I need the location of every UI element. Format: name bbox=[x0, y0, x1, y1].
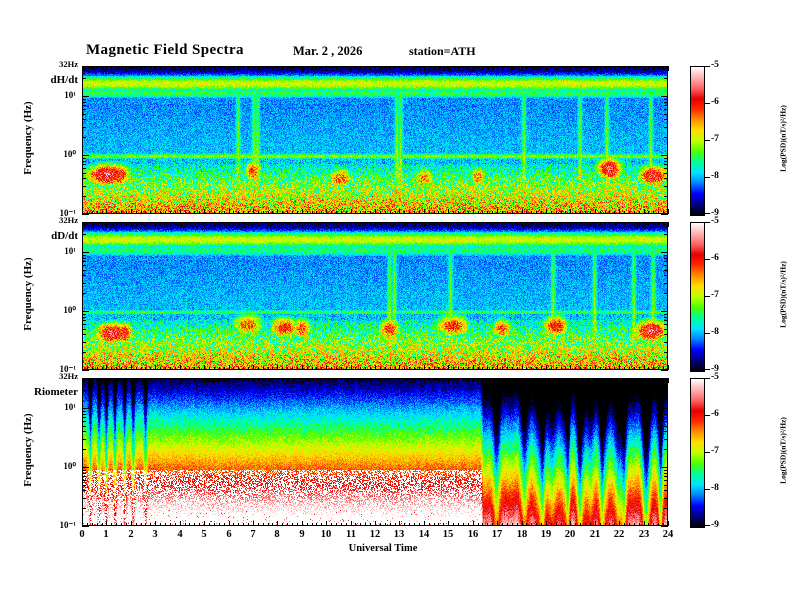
x-tick bbox=[136, 211, 137, 214]
x-tick bbox=[268, 378, 269, 381]
x-tick bbox=[517, 378, 518, 381]
x-tick bbox=[272, 66, 273, 69]
x-tick bbox=[497, 521, 498, 526]
x-tick bbox=[155, 521, 156, 526]
y-minor-tick bbox=[82, 449, 86, 450]
x-tick bbox=[644, 66, 645, 71]
y-minor-tick bbox=[82, 173, 86, 174]
x-tick bbox=[302, 378, 303, 383]
x-tick bbox=[585, 523, 586, 526]
y-minor-tick bbox=[664, 173, 668, 174]
x-tick bbox=[487, 367, 488, 370]
x-tick bbox=[463, 222, 464, 225]
y-minor-tick bbox=[82, 414, 86, 415]
x-tick bbox=[648, 222, 649, 225]
x-tick bbox=[419, 523, 420, 526]
x-tick bbox=[346, 378, 347, 381]
y-minor-tick bbox=[664, 473, 668, 474]
y-major-tick-right-riometer-0 bbox=[661, 408, 668, 409]
y-minor-tick bbox=[82, 390, 86, 391]
y-minor-tick bbox=[82, 137, 86, 138]
x-tick bbox=[458, 222, 459, 225]
x-tick bbox=[473, 209, 474, 214]
x-tick bbox=[375, 222, 376, 227]
x-tick bbox=[199, 378, 200, 381]
x-tick bbox=[170, 66, 171, 69]
x-tick bbox=[517, 222, 518, 225]
x-tick bbox=[565, 66, 566, 69]
x-tick bbox=[404, 523, 405, 526]
x-tick bbox=[375, 521, 376, 526]
y-minor-tick bbox=[664, 109, 668, 110]
x-tick bbox=[189, 378, 190, 381]
x-tick bbox=[438, 367, 439, 370]
y-minor-tick bbox=[664, 334, 668, 335]
x-tick bbox=[614, 378, 615, 381]
x-tick bbox=[145, 211, 146, 214]
x-tick bbox=[199, 523, 200, 526]
x-tick bbox=[487, 222, 488, 225]
x-tick bbox=[565, 222, 566, 225]
x-tick bbox=[570, 365, 571, 370]
colorbar-tick-label-dhdt-2: -7 bbox=[711, 134, 719, 144]
x-tick bbox=[106, 66, 107, 71]
x-tick bbox=[619, 209, 620, 214]
x-tick bbox=[302, 209, 303, 214]
x-tick bbox=[595, 521, 596, 526]
x-tick bbox=[512, 222, 513, 225]
x-tick bbox=[658, 378, 659, 381]
x-axis-tick-label-14: 14 bbox=[414, 529, 434, 540]
y-minor-tick bbox=[664, 490, 668, 491]
x-tick bbox=[605, 222, 606, 225]
x-tick bbox=[194, 222, 195, 225]
x-tick bbox=[453, 378, 454, 381]
x-tick bbox=[360, 222, 361, 225]
x-tick bbox=[253, 66, 254, 71]
x-tick bbox=[390, 66, 391, 69]
x-tick bbox=[463, 66, 464, 69]
x-tick bbox=[307, 367, 308, 370]
x-tick bbox=[605, 523, 606, 526]
x-tick bbox=[478, 378, 479, 381]
x-tick bbox=[331, 523, 332, 526]
y-minor-tick bbox=[664, 449, 668, 450]
x-tick bbox=[600, 66, 601, 69]
x-tick bbox=[321, 66, 322, 69]
y-minor-tick bbox=[664, 320, 668, 321]
colorbar-tick-label-dddt-2: -7 bbox=[711, 290, 719, 300]
x-axis-tick-label-8: 8 bbox=[267, 529, 287, 540]
x-tick bbox=[663, 66, 664, 69]
x-tick bbox=[170, 222, 171, 225]
x-tick bbox=[297, 66, 298, 69]
y-minor-tick bbox=[82, 485, 86, 486]
y-major-tick-dhdt-2 bbox=[82, 214, 89, 215]
x-tick bbox=[243, 222, 244, 225]
x-tick bbox=[448, 365, 449, 370]
x-tick bbox=[336, 378, 337, 381]
x-axis-tick-label-22: 22 bbox=[609, 529, 629, 540]
x-tick bbox=[624, 378, 625, 381]
x-tick bbox=[453, 222, 454, 225]
x-tick bbox=[360, 523, 361, 526]
x-tick bbox=[341, 367, 342, 370]
x-axis-tick-label-10: 10 bbox=[316, 529, 336, 540]
x-tick bbox=[141, 211, 142, 214]
x-tick bbox=[556, 378, 557, 381]
y-minor-tick bbox=[664, 255, 668, 256]
y-minor-tick bbox=[82, 265, 86, 266]
colorbar-tick-label-dddt-3: -8 bbox=[711, 327, 719, 337]
y-minor-tick bbox=[664, 102, 668, 103]
x-tick bbox=[248, 66, 249, 69]
x-tick bbox=[312, 222, 313, 225]
x-tick bbox=[609, 66, 610, 69]
x-tick bbox=[263, 367, 264, 370]
x-tick bbox=[541, 211, 542, 214]
x-tick bbox=[87, 378, 88, 381]
y-minor-tick bbox=[82, 102, 86, 103]
x-tick bbox=[243, 378, 244, 381]
x-tick bbox=[458, 367, 459, 370]
x-tick bbox=[634, 211, 635, 214]
x-tick bbox=[106, 222, 107, 227]
x-tick bbox=[233, 211, 234, 214]
x-tick bbox=[214, 66, 215, 69]
x-tick bbox=[614, 222, 615, 225]
x-tick bbox=[287, 367, 288, 370]
x-tick bbox=[561, 523, 562, 526]
x-tick bbox=[175, 367, 176, 370]
x-tick bbox=[634, 367, 635, 370]
x-tick bbox=[224, 378, 225, 381]
x-tick bbox=[302, 222, 303, 227]
x-tick bbox=[282, 367, 283, 370]
x-tick bbox=[614, 211, 615, 214]
x-tick bbox=[111, 66, 112, 69]
colorbar-tick bbox=[705, 140, 710, 141]
x-tick bbox=[590, 523, 591, 526]
x-tick bbox=[497, 209, 498, 214]
y-minor-tick bbox=[664, 105, 668, 106]
x-tick bbox=[639, 211, 640, 214]
x-tick bbox=[233, 378, 234, 381]
x-tick bbox=[229, 222, 230, 227]
y-minor-tick bbox=[82, 334, 86, 335]
x-tick bbox=[487, 523, 488, 526]
x-tick bbox=[429, 367, 430, 370]
x-tick bbox=[624, 367, 625, 370]
x-tick bbox=[180, 66, 181, 71]
x-tick bbox=[316, 523, 317, 526]
x-tick bbox=[575, 523, 576, 526]
y-minor-tick bbox=[664, 439, 668, 440]
x-tick bbox=[194, 367, 195, 370]
x-tick bbox=[346, 211, 347, 214]
x-tick bbox=[136, 367, 137, 370]
x-tick bbox=[609, 367, 610, 370]
x-axis-tick-label-19: 19 bbox=[536, 529, 556, 540]
x-tick bbox=[351, 222, 352, 227]
x-tick bbox=[297, 367, 298, 370]
x-tick bbox=[131, 365, 132, 370]
x-tick bbox=[312, 211, 313, 214]
x-tick bbox=[399, 521, 400, 526]
x-tick bbox=[409, 378, 410, 381]
colorbar-tick bbox=[705, 489, 710, 490]
x-tick bbox=[321, 211, 322, 214]
x-tick bbox=[473, 521, 474, 526]
x-tick bbox=[522, 521, 523, 526]
x-tick bbox=[229, 365, 230, 370]
x-tick bbox=[526, 211, 527, 214]
y-axis-title-dhdt: Frequency (Hz) bbox=[22, 88, 34, 188]
x-tick bbox=[204, 378, 205, 383]
panel-tag-dddt: dD/dt bbox=[4, 230, 78, 242]
x-tick bbox=[263, 222, 264, 225]
x-tick bbox=[312, 66, 313, 69]
x-tick bbox=[526, 378, 527, 381]
panel-top-freq-label-dddt: 32Hz bbox=[38, 215, 78, 225]
x-axis-tick-label-13: 13 bbox=[389, 529, 409, 540]
x-tick bbox=[453, 211, 454, 214]
x-axis-tick-label-6: 6 bbox=[219, 529, 239, 540]
x-tick bbox=[82, 521, 83, 526]
x-tick bbox=[399, 378, 400, 383]
y-major-tick-dddt-2 bbox=[82, 370, 89, 371]
x-tick bbox=[492, 523, 493, 526]
x-tick bbox=[375, 66, 376, 71]
x-tick bbox=[526, 66, 527, 69]
x-tick bbox=[248, 523, 249, 526]
x-tick bbox=[434, 222, 435, 225]
x-tick bbox=[390, 523, 391, 526]
y-minor-tick bbox=[664, 431, 668, 432]
x-tick bbox=[639, 378, 640, 381]
x-tick bbox=[512, 378, 513, 381]
x-tick bbox=[277, 378, 278, 383]
x-tick bbox=[341, 222, 342, 225]
y-minor-tick bbox=[82, 78, 86, 79]
x-tick bbox=[126, 523, 127, 526]
y-minor-tick bbox=[664, 258, 668, 259]
x-tick bbox=[97, 222, 98, 225]
x-tick bbox=[634, 378, 635, 381]
x-tick bbox=[565, 367, 566, 370]
x-tick bbox=[482, 66, 483, 69]
x-axis-tick-label-0: 0 bbox=[72, 529, 92, 540]
x-tick bbox=[424, 66, 425, 71]
x-tick bbox=[419, 222, 420, 225]
x-tick bbox=[355, 378, 356, 381]
x-tick bbox=[175, 222, 176, 225]
x-tick bbox=[434, 211, 435, 214]
y-minor-tick bbox=[664, 161, 668, 162]
y-minor-tick bbox=[664, 342, 668, 343]
x-tick bbox=[160, 523, 161, 526]
x-tick bbox=[668, 222, 669, 227]
x-tick bbox=[277, 66, 278, 71]
x-tick bbox=[131, 521, 132, 526]
y-minor-tick bbox=[664, 329, 668, 330]
x-tick bbox=[492, 378, 493, 381]
x-tick bbox=[121, 66, 122, 69]
x-tick bbox=[150, 211, 151, 214]
x-tick bbox=[385, 523, 386, 526]
x-tick bbox=[565, 211, 566, 214]
colorbar-tick bbox=[705, 333, 710, 334]
y-minor-tick bbox=[664, 234, 668, 235]
x-tick bbox=[155, 222, 156, 227]
x-tick bbox=[570, 378, 571, 383]
x-tick bbox=[507, 66, 508, 69]
x-tick bbox=[438, 523, 439, 526]
y-minor-tick bbox=[82, 342, 86, 343]
x-tick bbox=[551, 211, 552, 214]
x-axis-tick-label-4: 4 bbox=[170, 529, 190, 540]
x-tick bbox=[448, 378, 449, 383]
x-tick bbox=[106, 365, 107, 370]
y-minor-tick bbox=[82, 258, 86, 259]
x-tick bbox=[341, 66, 342, 69]
x-tick bbox=[150, 378, 151, 381]
x-tick bbox=[653, 367, 654, 370]
y-minor-tick bbox=[82, 426, 86, 427]
x-tick bbox=[590, 222, 591, 225]
x-tick bbox=[629, 523, 630, 526]
x-tick bbox=[473, 378, 474, 383]
x-tick bbox=[351, 365, 352, 370]
x-tick bbox=[565, 378, 566, 381]
x-tick bbox=[463, 211, 464, 214]
x-tick bbox=[404, 367, 405, 370]
x-tick bbox=[541, 523, 542, 526]
x-tick bbox=[365, 378, 366, 381]
x-tick bbox=[404, 211, 405, 214]
x-tick bbox=[458, 66, 459, 69]
x-axis-tick-label-7: 7 bbox=[243, 529, 263, 540]
x-axis-tick-label-15: 15 bbox=[438, 529, 458, 540]
x-tick bbox=[282, 378, 283, 381]
x-tick bbox=[522, 66, 523, 71]
y-minor-tick bbox=[82, 473, 86, 474]
spectrogram-canvas-riometer bbox=[82, 378, 668, 526]
x-tick bbox=[414, 523, 415, 526]
y-minor-tick bbox=[82, 196, 86, 197]
x-tick bbox=[238, 211, 239, 214]
x-tick bbox=[160, 367, 161, 370]
x-tick bbox=[165, 211, 166, 214]
x-tick bbox=[282, 66, 283, 69]
y-minor-tick bbox=[82, 261, 86, 262]
x-tick bbox=[614, 523, 615, 526]
x-tick bbox=[429, 66, 430, 69]
x-tick bbox=[165, 367, 166, 370]
x-tick bbox=[453, 523, 454, 526]
x-tick bbox=[243, 367, 244, 370]
x-tick bbox=[224, 211, 225, 214]
colorbar-title-riometer: Log(PSD)(nT/s)²/Hz) bbox=[779, 386, 788, 516]
x-tick bbox=[380, 367, 381, 370]
x-tick bbox=[258, 222, 259, 225]
x-tick bbox=[253, 365, 254, 370]
y-minor-tick bbox=[664, 476, 668, 477]
y-minor-tick bbox=[82, 324, 86, 325]
x-tick bbox=[336, 66, 337, 69]
x-tick bbox=[277, 222, 278, 227]
x-tick bbox=[522, 365, 523, 370]
x-tick bbox=[341, 523, 342, 526]
x-tick bbox=[390, 211, 391, 214]
x-tick bbox=[414, 222, 415, 225]
x-tick bbox=[575, 378, 576, 381]
y-major-tick-right-dhdt-2 bbox=[661, 214, 668, 215]
x-tick bbox=[102, 211, 103, 214]
x-tick bbox=[214, 523, 215, 526]
x-tick bbox=[556, 367, 557, 370]
x-tick bbox=[385, 211, 386, 214]
x-tick bbox=[531, 378, 532, 381]
x-tick bbox=[341, 211, 342, 214]
x-tick bbox=[634, 222, 635, 225]
x-tick bbox=[570, 222, 571, 227]
x-tick bbox=[258, 523, 259, 526]
x-tick bbox=[82, 378, 83, 383]
x-tick bbox=[175, 211, 176, 214]
x-tick bbox=[302, 66, 303, 71]
x-tick bbox=[111, 523, 112, 526]
x-tick bbox=[145, 378, 146, 381]
x-tick bbox=[429, 378, 430, 381]
colorbar-tick bbox=[705, 259, 710, 260]
y-minor-tick bbox=[82, 109, 86, 110]
y-minor-tick bbox=[664, 270, 668, 271]
x-tick bbox=[478, 211, 479, 214]
x-tick bbox=[165, 378, 166, 381]
x-tick bbox=[448, 209, 449, 214]
x-tick bbox=[160, 222, 161, 225]
x-tick bbox=[487, 211, 488, 214]
panel-tag-dhdt: dH/dt bbox=[4, 74, 78, 86]
x-tick bbox=[238, 523, 239, 526]
x-tick bbox=[209, 378, 210, 381]
x-tick bbox=[131, 209, 132, 214]
y-minor-tick bbox=[82, 498, 86, 499]
x-tick bbox=[404, 222, 405, 225]
x-tick bbox=[106, 209, 107, 214]
y-minor-tick bbox=[82, 105, 86, 106]
x-tick bbox=[575, 367, 576, 370]
x-tick bbox=[624, 211, 625, 214]
x-tick bbox=[97, 523, 98, 526]
x-tick bbox=[536, 66, 537, 69]
x-tick bbox=[287, 378, 288, 381]
x-tick bbox=[121, 211, 122, 214]
x-tick bbox=[312, 378, 313, 381]
x-tick bbox=[536, 222, 537, 225]
x-tick bbox=[370, 378, 371, 381]
x-tick bbox=[531, 367, 532, 370]
x-tick bbox=[145, 367, 146, 370]
x-tick bbox=[619, 222, 620, 227]
x-tick bbox=[355, 367, 356, 370]
y-minor-tick bbox=[82, 275, 86, 276]
y-minor-tick bbox=[664, 99, 668, 100]
x-tick bbox=[116, 367, 117, 370]
x-tick bbox=[605, 378, 606, 381]
x-tick bbox=[282, 222, 283, 225]
